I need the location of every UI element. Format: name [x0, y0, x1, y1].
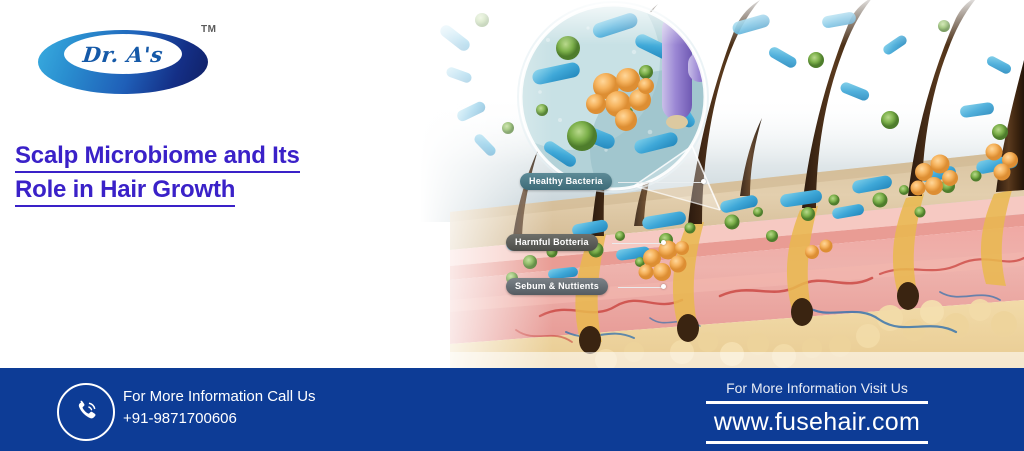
- phone-icon-svg: [73, 397, 99, 423]
- page-title-line-1: Scalp Microbiome and Its: [15, 142, 300, 173]
- label-healthy-bacteria: Healthy Bacteria: [520, 173, 612, 190]
- visit-us-block: For More Information Visit Us www.fuseha…: [672, 378, 962, 444]
- dr-as-logo[interactable]: Dr. A's TM: [38, 22, 228, 102]
- phone-call-icon[interactable]: [57, 383, 115, 441]
- scalp-illustration: Healthy Bacteria Harmful Botteria Sebum …: [420, 0, 1024, 368]
- logo-inner-field: Dr. A's: [64, 34, 182, 74]
- website-url[interactable]: www.fusehair.com: [706, 401, 928, 444]
- promo-banner: Healthy Bacteria Harmful Botteria Sebum …: [0, 0, 1024, 451]
- leader-line-harmful: [612, 243, 664, 244]
- phone-glyph: [73, 397, 99, 428]
- trademark-symbol: TM: [201, 24, 216, 35]
- leader-dot-harmful: [661, 240, 666, 245]
- call-us-text-block: For More Information Call Us +91-9871700…: [123, 386, 316, 430]
- logo-wordmark: Dr. A's: [62, 34, 184, 74]
- page-title[interactable]: Scalp Microbiome and Its Role in Hair Gr…: [15, 139, 415, 207]
- illustration-canvas: [420, 0, 1024, 368]
- left-content-panel: Dr. A's TM Scalp Microbiome and Its Role…: [0, 0, 460, 368]
- label-harmful-bacteria: Harmful Botteria: [506, 234, 598, 251]
- leader-line-healthy: [618, 182, 704, 183]
- leader-line-sebum: [618, 287, 664, 288]
- call-us-label: For More Information Call Us: [123, 386, 316, 408]
- leader-dot-sebum: [661, 284, 666, 289]
- scalp-cross-section-svg: [420, 0, 1024, 368]
- phone-number[interactable]: +91-9871700606: [123, 408, 316, 430]
- label-sebum-nutrients: Sebum & Nuttients: [506, 278, 608, 295]
- page-title-line-2: Role in Hair Growth: [15, 176, 235, 207]
- visit-us-label: For More Information Visit Us: [672, 378, 962, 398]
- leader-dot-healthy: [701, 179, 706, 184]
